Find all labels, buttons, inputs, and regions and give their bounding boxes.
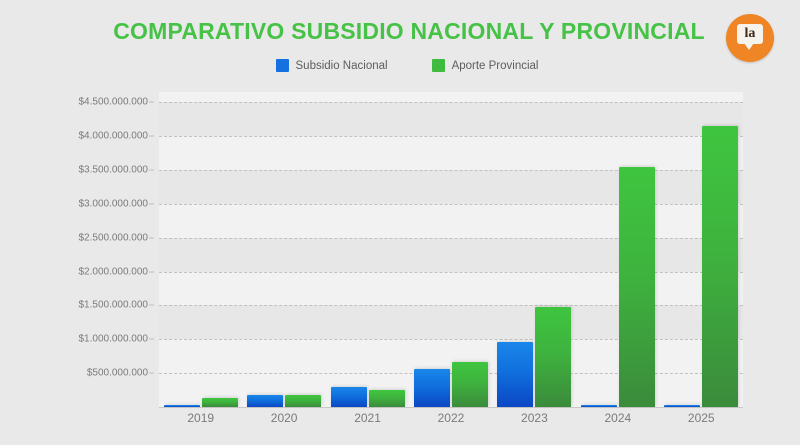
y-axis-tick bbox=[149, 237, 154, 238]
y-axis-label: $2.500.000.000 bbox=[78, 232, 148, 243]
y-axis-label: $1.000.000.000 bbox=[78, 334, 148, 345]
y-axis-label: $500.000.000 bbox=[87, 368, 148, 379]
legend-label: Aporte Provincial bbox=[452, 60, 539, 72]
y-axis-tick bbox=[149, 339, 154, 340]
y-axis-tick bbox=[149, 305, 154, 306]
bar-nacional-2022[interactable] bbox=[414, 369, 450, 407]
legend-swatch-icon bbox=[276, 59, 289, 72]
y-axis-label: $1.500.000.000 bbox=[78, 300, 148, 311]
x-axis-label-2025: 2025 bbox=[660, 411, 743, 425]
logo-text: la bbox=[745, 27, 756, 41]
x-axis-label-2022: 2022 bbox=[409, 411, 492, 425]
bar-group-2021 bbox=[326, 92, 409, 407]
page-title: COMPARATIVO SUBSIDIO NACIONAL Y PROVINCI… bbox=[0, 18, 800, 45]
bar-nacional-2021[interactable] bbox=[331, 387, 367, 407]
legend-label: Subsidio Nacional bbox=[296, 60, 388, 72]
x-axis: 2019202020212022202320242025 bbox=[159, 411, 743, 425]
bar-group-2025 bbox=[660, 92, 743, 407]
y-axis: $500.000.000$1.000.000.000$1.500.000.000… bbox=[44, 92, 154, 407]
brand-logo: la bbox=[726, 14, 774, 62]
bar-provincial-2020[interactable] bbox=[285, 395, 321, 407]
x-axis-label-2020: 2020 bbox=[242, 411, 325, 425]
bar-nacional-2025[interactable] bbox=[664, 405, 700, 407]
bar-provincial-2019[interactable] bbox=[202, 398, 238, 407]
y-axis-label: $4.000.000.000 bbox=[78, 131, 148, 142]
bar-nacional-2023[interactable] bbox=[497, 342, 533, 407]
infographic-root: COMPARATIVO SUBSIDIO NACIONAL Y PROVINCI… bbox=[0, 0, 800, 445]
chart-legend: Subsidio NacionalAporte Provincial bbox=[0, 59, 800, 72]
y-axis-label: $3.500.000.000 bbox=[78, 164, 148, 175]
y-axis-tick bbox=[149, 169, 154, 170]
y-axis-tick bbox=[149, 373, 154, 374]
bar-provincial-2025[interactable] bbox=[702, 126, 738, 407]
bar-nacional-2024[interactable] bbox=[581, 405, 617, 407]
bar-provincial-2021[interactable] bbox=[369, 390, 405, 407]
axis-baseline bbox=[159, 407, 743, 408]
bar-groups bbox=[159, 92, 743, 407]
x-axis-label-2021: 2021 bbox=[326, 411, 409, 425]
bar-chart: $500.000.000$1.000.000.000$1.500.000.000… bbox=[44, 88, 756, 428]
bar-group-2024 bbox=[576, 92, 659, 407]
bar-nacional-2019[interactable] bbox=[164, 405, 200, 407]
y-axis-tick bbox=[149, 271, 154, 272]
bar-provincial-2024[interactable] bbox=[619, 167, 655, 407]
legend-item-2[interactable]: Aporte Provincial bbox=[432, 59, 539, 72]
bar-group-2022 bbox=[409, 92, 492, 407]
bar-group-2023 bbox=[493, 92, 576, 407]
bar-nacional-2020[interactable] bbox=[247, 395, 283, 407]
y-axis-tick bbox=[149, 136, 154, 137]
bar-provincial-2022[interactable] bbox=[452, 362, 488, 407]
x-axis-label-2023: 2023 bbox=[493, 411, 576, 425]
y-axis-tick bbox=[149, 102, 154, 103]
bar-group-2019 bbox=[159, 92, 242, 407]
legend-item-1[interactable]: Subsidio Nacional bbox=[276, 59, 388, 72]
y-axis-label: $3.000.000.000 bbox=[78, 198, 148, 209]
y-axis-label: $4.500.000.000 bbox=[78, 97, 148, 108]
y-axis-label: $2.000.000.000 bbox=[78, 266, 148, 277]
x-axis-label-2024: 2024 bbox=[576, 411, 659, 425]
x-axis-label-2019: 2019 bbox=[159, 411, 242, 425]
speech-bubble-icon: la bbox=[737, 24, 763, 44]
bar-provincial-2023[interactable] bbox=[535, 307, 571, 407]
legend-swatch-icon bbox=[432, 59, 445, 72]
bar-group-2020 bbox=[242, 92, 325, 407]
y-axis-tick bbox=[149, 203, 154, 204]
